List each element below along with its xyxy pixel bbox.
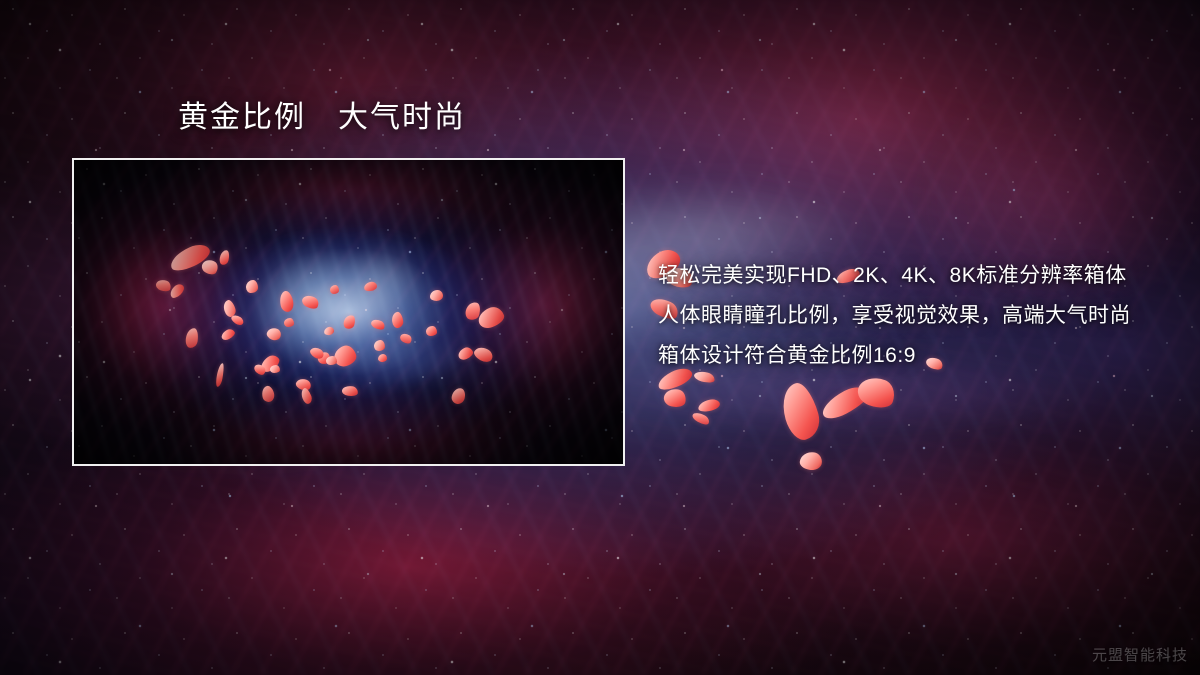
petal [854, 373, 899, 413]
picture-vignette [74, 160, 623, 464]
body-line-3: 箱体设计符合黄金比例16:9 [658, 336, 1128, 376]
body-text-block: 轻松完美实现FHD、2K、4K、8K标准分辨率箱体 人体眼睛瞳孔比例，享受视觉效… [658, 256, 1128, 376]
body-line-2: 人体眼睛瞳孔比例，享受视觉效果，高端大气时尚 [658, 296, 1128, 336]
petal [691, 410, 711, 426]
petal [799, 451, 823, 472]
watermark-label: 元盟智能科技 [1092, 644, 1188, 665]
petal [697, 398, 721, 413]
body-line-1: 轻松完美实现FHD、2K、4K、8K标准分辨率箱体 [658, 256, 1128, 296]
presentation-slide: 黄金比例 大气时尚 轻松完美实现FHD、2K、4K、8K标准分辨率箱体 人体眼睛… [0, 0, 1200, 675]
nebula-picture-frame[interactable] [72, 158, 625, 466]
petal [777, 380, 824, 444]
slide-title: 黄金比例 大气时尚 [178, 101, 466, 134]
petal [662, 387, 687, 409]
